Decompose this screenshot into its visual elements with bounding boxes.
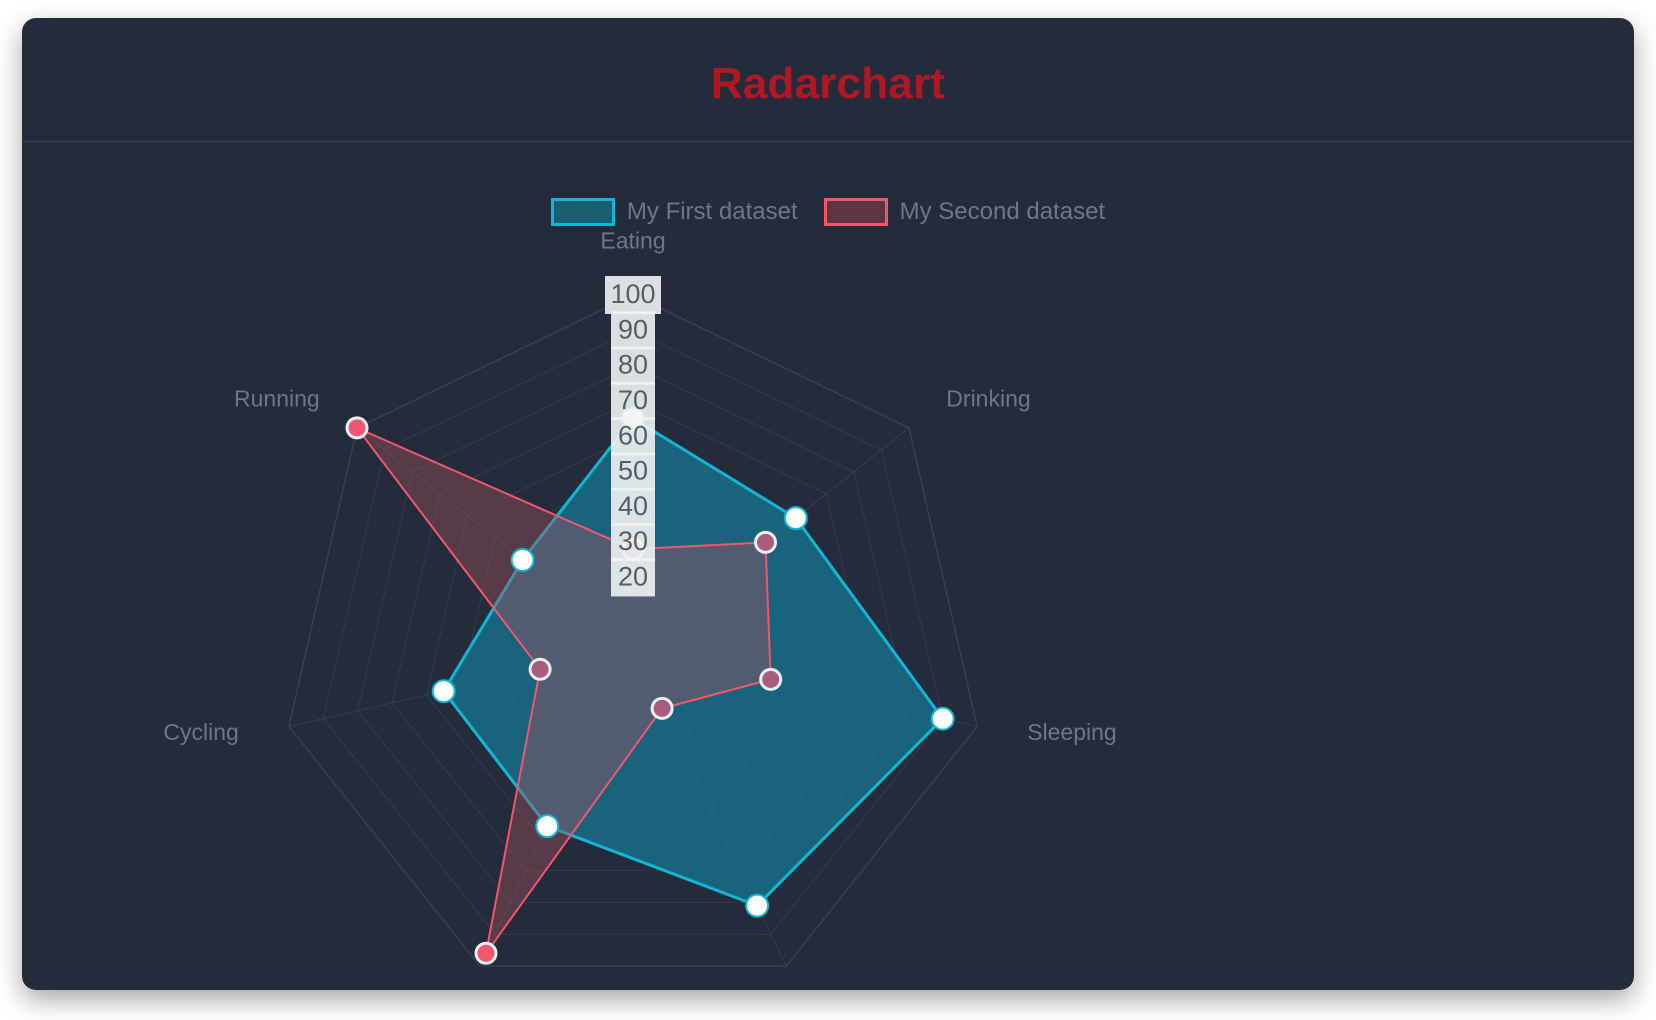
- tick-label-text: 50: [618, 456, 648, 486]
- tick-label: 70: [611, 382, 655, 420]
- tick-label-text: 40: [618, 491, 648, 521]
- tick-label-text: 90: [618, 314, 648, 344]
- axis-label-cycling: Cycling: [163, 719, 238, 745]
- axis-label-sleeping: Sleeping: [1027, 719, 1117, 745]
- data-point[interactable]: [476, 943, 496, 963]
- page-title: Radarchart: [22, 58, 1634, 110]
- chart-area: My First dataset My Second dataset 20304…: [22, 142, 1634, 990]
- tick-label: 60: [611, 417, 655, 455]
- tick-label: 80: [611, 347, 655, 385]
- data-point[interactable]: [536, 815, 558, 837]
- tick-label-text: 100: [610, 279, 655, 309]
- data-point[interactable]: [932, 708, 954, 730]
- data-point[interactable]: [785, 507, 807, 529]
- tick-label-text: 70: [618, 385, 648, 415]
- tick-label: 50: [611, 453, 655, 491]
- tick-label: 30: [611, 523, 655, 561]
- axis-label-running: Running: [234, 386, 320, 412]
- tick-label: 90: [611, 311, 655, 349]
- tick-label-text: 30: [618, 526, 648, 556]
- tick-label: 40: [611, 488, 655, 526]
- data-point[interactable]: [761, 669, 781, 689]
- tick-label: 100: [605, 276, 661, 314]
- data-point[interactable]: [652, 698, 672, 718]
- screenshot-root: Radarchart My First dataset My Second da…: [0, 0, 1656, 1020]
- data-point[interactable]: [347, 418, 367, 438]
- data-point[interactable]: [530, 659, 550, 679]
- radar-chart-canvas[interactable]: 2030405060708090100 EatingDrinkingSleepi…: [22, 142, 1634, 990]
- radar-tick-labels: 2030405060708090100: [605, 276, 661, 596]
- chart-window: Radarchart My First dataset My Second da…: [22, 18, 1634, 990]
- data-point[interactable]: [433, 680, 455, 702]
- tick-label: 20: [611, 558, 655, 596]
- window-titlebar: Radarchart: [22, 18, 1634, 142]
- data-point[interactable]: [512, 549, 534, 571]
- axis-label-eating: Eating: [600, 227, 665, 253]
- data-point[interactable]: [746, 895, 768, 917]
- tick-label-text: 60: [618, 420, 648, 450]
- data-point[interactable]: [756, 532, 776, 552]
- tick-label-text: 20: [618, 562, 648, 592]
- tick-label-text: 80: [618, 350, 648, 380]
- axis-label-drinking: Drinking: [946, 386, 1030, 412]
